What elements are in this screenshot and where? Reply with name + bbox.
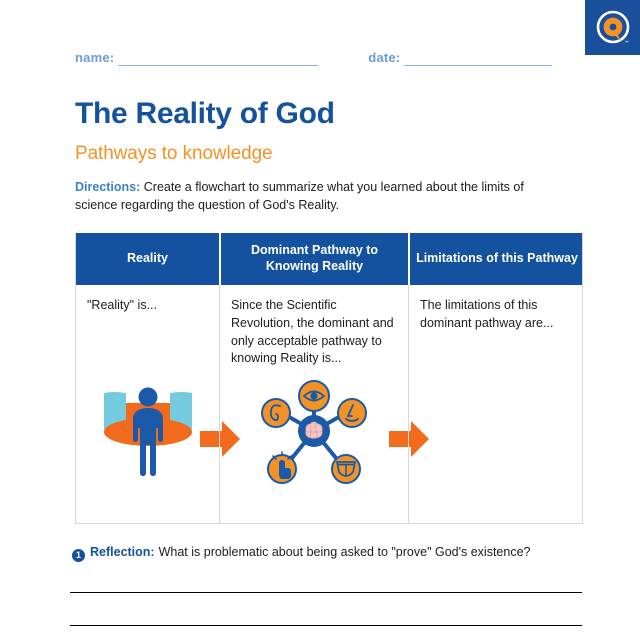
directions-label: Directions: xyxy=(75,180,140,194)
directions-block: Directions: Create a flowchart to summar… xyxy=(75,178,545,214)
q-logo-icon: ™ xyxy=(595,10,631,46)
student-meta-row: name: date: xyxy=(75,50,575,66)
ear-icon xyxy=(262,399,290,427)
reflection-label: Reflection: xyxy=(90,545,155,559)
date-label: date: xyxy=(368,50,400,66)
flowchart-table: Reality Dominant Pathway to Knowing Real… xyxy=(75,233,583,524)
nose-icon xyxy=(338,399,366,427)
table-cell-limitations[interactable]: The limitations of this dominant pathway… xyxy=(408,285,584,523)
table-row: "Reality" is... xyxy=(76,285,582,523)
svg-text:™: ™ xyxy=(624,39,628,44)
reflection-question: What is problematic about being asked to… xyxy=(159,545,531,559)
reflection-number-badge: 1 xyxy=(72,549,85,562)
brain-icon xyxy=(298,415,330,447)
name-input-line[interactable] xyxy=(118,51,318,66)
table-cell-reality[interactable]: "Reality" is... xyxy=(76,285,219,523)
page-title: The Reality of God xyxy=(75,98,335,130)
table-cell-limitations-text: The limitations of this dominant pathway… xyxy=(420,298,553,330)
table-cell-dominant-pathway-text: Since the Scientific Revolution, the dom… xyxy=(231,298,394,365)
page-subtitle: Pathways to knowledge xyxy=(75,143,273,165)
date-input-line[interactable] xyxy=(404,51,552,66)
table-header-dominant-pathway: Dominant Pathway to Knowing Reality xyxy=(219,233,408,285)
table-header-limitations: Limitations of this Pathway xyxy=(408,233,584,285)
reflection-answer-line-2[interactable] xyxy=(70,625,582,626)
table-header-reality: Reality xyxy=(76,233,219,285)
name-label: name: xyxy=(75,50,114,66)
table-cell-dominant-pathway[interactable]: Since the Scientific Revolution, the dom… xyxy=(219,285,408,523)
reflection-block: 1 Reflection: What is problematic about … xyxy=(72,545,582,560)
table-cell-reality-text: "Reality" is... xyxy=(87,298,157,312)
reflection-answer-line-1[interactable] xyxy=(70,592,582,593)
table-header-row: Reality Dominant Pathway to Knowing Real… xyxy=(76,233,582,285)
mouth-tongue-icon xyxy=(332,455,360,483)
person-on-disc-icon xyxy=(100,379,196,479)
brand-logo-badge[interactable]: ™ xyxy=(585,0,640,55)
five-senses-hub-icon xyxy=(258,375,370,487)
directions-text: Create a flowchart to summarize what you… xyxy=(75,180,524,212)
eye-icon xyxy=(299,381,329,411)
worksheet-page: ™ name: date: The Reality of God Pathway… xyxy=(0,0,640,640)
